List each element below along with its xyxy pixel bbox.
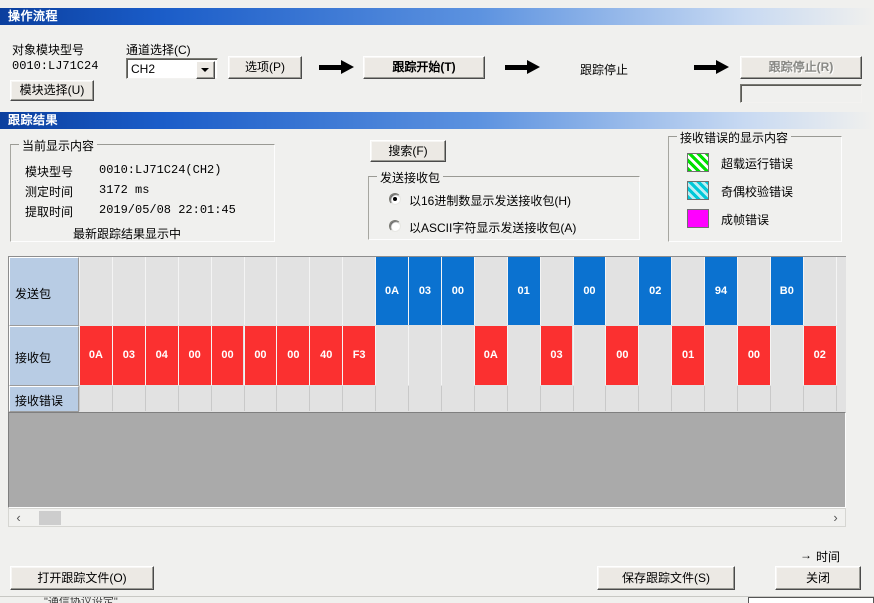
send-byte-cell[interactable]: B0 <box>771 257 803 325</box>
parity-error-swatch-icon <box>687 181 709 200</box>
grid-column-divider <box>737 257 738 325</box>
row-header-send-label: 发送包 <box>15 285 51 302</box>
grid-column-divider <box>540 386 541 411</box>
right-arrow-icon-2 <box>505 59 541 75</box>
grid-column-divider <box>441 386 442 411</box>
receive-byte-cell[interactable]: 00 <box>738 326 770 385</box>
module-select-button-label: 模块选择(U) <box>11 81 93 100</box>
trace-stop-button-label: 跟踪停止(R) <box>741 57 861 78</box>
trace-stop-label: 跟踪停止 <box>580 61 628 78</box>
error-legend-group-title: 接收错误的显示内容 <box>677 129 791 146</box>
grid-column-divider <box>803 257 804 325</box>
trace-start-button[interactable]: 跟踪开始(T) <box>363 56 485 79</box>
grid-column-divider <box>375 326 376 385</box>
receive-byte-cell[interactable]: 03 <box>113 326 145 385</box>
channel-select-value: CH2 <box>131 62 155 76</box>
grid-column-divider <box>79 386 80 411</box>
trace-status-field <box>740 84 862 103</box>
time-axis-label: 时间 <box>816 548 840 565</box>
receive-byte-cell[interactable]: 02 <box>804 326 836 385</box>
error-legend-group: 接收错误的显示内容 超载运行错误 奇偶校验错误 成帧错误 <box>668 136 842 242</box>
grid-column-divider <box>112 257 113 325</box>
grid-column-divider <box>540 257 541 325</box>
horizontal-scrollbar[interactable]: ‹ › <box>8 508 846 527</box>
packet-format-group-title: 发送接收包 <box>377 169 443 186</box>
receive-byte-cell[interactable]: 0A <box>80 326 112 385</box>
packet-grid-row-send: 发送包 0A030001000294B0 <box>9 257 847 326</box>
send-byte-cell[interactable]: 94 <box>705 257 737 325</box>
current-display-footer: 最新跟踪结果显示中 <box>73 225 181 242</box>
grid-column-divider <box>211 386 212 411</box>
grid-column-divider <box>474 386 475 411</box>
radio-ascii-label: 以ASCII字符显示发送接收包(A) <box>409 219 576 236</box>
receive-byte-cell[interactable]: 00 <box>606 326 638 385</box>
framing-error-swatch-icon <box>687 209 709 228</box>
receive-byte-cell[interactable]: 40 <box>310 326 342 385</box>
grid-column-divider <box>408 386 409 411</box>
grid-column-divider <box>244 257 245 325</box>
trace-stop-button[interactable]: 跟踪停止(R) <box>740 56 862 79</box>
grid-column-divider <box>671 386 672 411</box>
current-display-group: 当前显示内容 模块型号 0010:LJ71C24(CH2) 测定时间 3172 … <box>10 144 275 242</box>
grid-column-divider <box>770 326 771 385</box>
grid-column-divider <box>342 257 343 325</box>
module-select-button[interactable]: 模块选择(U) <box>10 80 94 101</box>
grid-column-divider <box>573 386 574 411</box>
receive-byte-cell[interactable]: 0A <box>475 326 507 385</box>
receive-byte-cell[interactable]: 04 <box>146 326 178 385</box>
grid-column-divider <box>704 386 705 411</box>
receive-byte-cell[interactable]: 00 <box>277 326 309 385</box>
background-window-separator: … <box>688 597 698 603</box>
grid-column-divider <box>605 257 606 325</box>
trace-dialog: 操作流程 对象模块型号 0010:LJ71C24 模块选择(U) 通道选择(C)… <box>0 0 874 602</box>
parity-error-label: 奇偶校验错误 <box>721 183 793 200</box>
error-cells <box>79 386 847 412</box>
grid-column-divider <box>112 386 113 411</box>
packet-grid[interactable]: 发送包 0A030001000294B0 接收包 0A0304000000004… <box>8 256 846 412</box>
grid-column-divider <box>309 386 310 411</box>
packet-grid-row-error: 接收错误 <box>9 386 847 412</box>
scrollbar-thumb[interactable] <box>39 511 61 525</box>
receive-byte-cell[interactable]: F3 <box>343 326 375 385</box>
search-button-label: 搜索(F) <box>371 141 445 161</box>
grid-column-divider <box>770 386 771 411</box>
receive-byte-cell[interactable]: 00 <box>179 326 211 385</box>
packet-grid-row-receive: 接收包 0A03040000000040F30A0300010002 <box>9 326 847 386</box>
grid-column-divider <box>375 386 376 411</box>
grid-column-divider <box>605 386 606 411</box>
open-trace-file-button[interactable]: 打开跟踪文件(O) <box>10 566 154 590</box>
section-header-result-label: 跟踪结果 <box>0 112 58 129</box>
grid-column-divider <box>737 386 738 411</box>
send-byte-cell[interactable]: 0A <box>376 257 408 325</box>
option-button-label: 选项(P) <box>229 57 301 78</box>
grid-column-divider <box>638 326 639 385</box>
chevron-down-icon[interactable] <box>196 61 215 79</box>
current-display-row-1-value: 3172 ms <box>99 183 149 197</box>
send-byte-cell[interactable]: 00 <box>574 257 606 325</box>
current-display-row-1-label: 测定时间 <box>25 183 73 200</box>
channel-select-label: 通道选择(C) <box>126 41 191 58</box>
option-button[interactable]: 选项(P) <box>228 56 302 79</box>
row-header-receive: 接收包 <box>9 326 79 386</box>
send-byte-cell[interactable]: 01 <box>508 257 540 325</box>
send-byte-cell[interactable]: 02 <box>639 257 671 325</box>
grid-column-divider <box>276 386 277 411</box>
chevron-left-icon[interactable]: ‹ <box>10 509 27 526</box>
row-header-error: 接收错误 <box>9 386 79 412</box>
section-header-flow-label: 操作流程 <box>0 8 58 25</box>
grid-column-divider <box>342 386 343 411</box>
close-button[interactable]: 关闭 <box>775 566 861 590</box>
grid-column-divider <box>671 257 672 325</box>
current-display-row-0-label: 模块型号 <box>25 163 73 180</box>
current-display-row-2-value: 2019/05/08 22:01:45 <box>99 203 236 217</box>
grid-column-divider <box>803 386 804 411</box>
row-header-send: 发送包 <box>9 257 79 326</box>
module-model-label: 对象模块型号 <box>12 41 84 58</box>
save-trace-file-button-label: 保存跟踪文件(S) <box>598 567 734 589</box>
grid-column-divider <box>441 326 442 385</box>
detail-pane[interactable] <box>8 412 846 508</box>
grid-column-divider <box>145 386 146 411</box>
module-model-value: 0010:LJ71C24 <box>12 59 98 73</box>
radio-hex[interactable] <box>389 193 401 205</box>
search-button[interactable]: 搜索(F) <box>370 140 446 162</box>
grid-column-divider <box>836 257 837 325</box>
overrun-error-label: 超载运行错误 <box>721 155 793 172</box>
right-arrow-icon-3 <box>694 59 730 75</box>
current-display-row-0-value: 0010:LJ71C24(CH2) <box>99 163 221 177</box>
radio-hex-label: 以16进制数显示发送接收包(H) <box>409 192 571 209</box>
grid-column-divider <box>507 326 508 385</box>
row-header-receive-label: 接收包 <box>15 349 51 366</box>
grid-column-divider <box>276 257 277 325</box>
send-byte-cell[interactable]: 03 <box>409 257 441 325</box>
save-trace-file-button[interactable]: 保存跟踪文件(S) <box>597 566 735 590</box>
grid-column-divider <box>408 326 409 385</box>
radio-ascii[interactable] <box>389 220 401 232</box>
grid-column-divider <box>145 257 146 325</box>
grid-column-divider <box>836 326 837 385</box>
receive-byte-cell[interactable]: 03 <box>541 326 573 385</box>
section-header-flow: 操作流程 <box>0 8 874 25</box>
row-header-error-label: 接收错误 <box>15 392 63 409</box>
grid-column-divider <box>244 386 245 411</box>
close-button-label: 关闭 <box>776 567 860 589</box>
channel-select-combo[interactable]: CH2 <box>126 58 218 79</box>
grid-column-divider <box>638 386 639 411</box>
grid-column-divider <box>474 257 475 325</box>
receive-byte-cell[interactable]: 01 <box>672 326 704 385</box>
grid-column-divider <box>79 257 80 325</box>
overrun-error-swatch-icon <box>687 153 709 172</box>
grid-column-divider <box>507 386 508 411</box>
grid-column-divider <box>178 386 179 411</box>
grid-column-divider <box>309 257 310 325</box>
send-byte-cell[interactable]: 00 <box>442 257 474 325</box>
receive-byte-cell[interactable]: 00 <box>212 326 244 385</box>
background-window-field <box>748 597 874 603</box>
current-display-row-2-label: 提取时间 <box>25 203 73 220</box>
receive-byte-cell[interactable]: 00 <box>245 326 277 385</box>
grid-column-divider <box>704 326 705 385</box>
current-display-group-title: 当前显示内容 <box>19 137 97 154</box>
section-header-result: 跟踪结果 <box>0 112 874 129</box>
trace-start-button-label: 跟踪开始(T) <box>364 57 484 78</box>
time-axis-arrow-icon: → <box>800 548 812 562</box>
packet-format-group: 发送接收包 以16进制数显示发送接收包(H) 以ASCII字符显示发送接收包(A… <box>368 176 640 240</box>
grid-column-divider <box>178 257 179 325</box>
grid-column-divider <box>573 326 574 385</box>
receive-cells: 0A03040000000040F30A0300010002 <box>79 326 847 386</box>
chevron-right-icon[interactable]: › <box>827 509 844 526</box>
framing-error-label: 成帧错误 <box>721 211 769 228</box>
grid-column-divider <box>836 386 837 411</box>
grid-column-divider <box>211 257 212 325</box>
send-cells: 0A030001000294B0 <box>79 257 847 326</box>
open-trace-file-button-label: 打开跟踪文件(O) <box>11 567 153 589</box>
right-arrow-icon-1 <box>319 59 355 75</box>
